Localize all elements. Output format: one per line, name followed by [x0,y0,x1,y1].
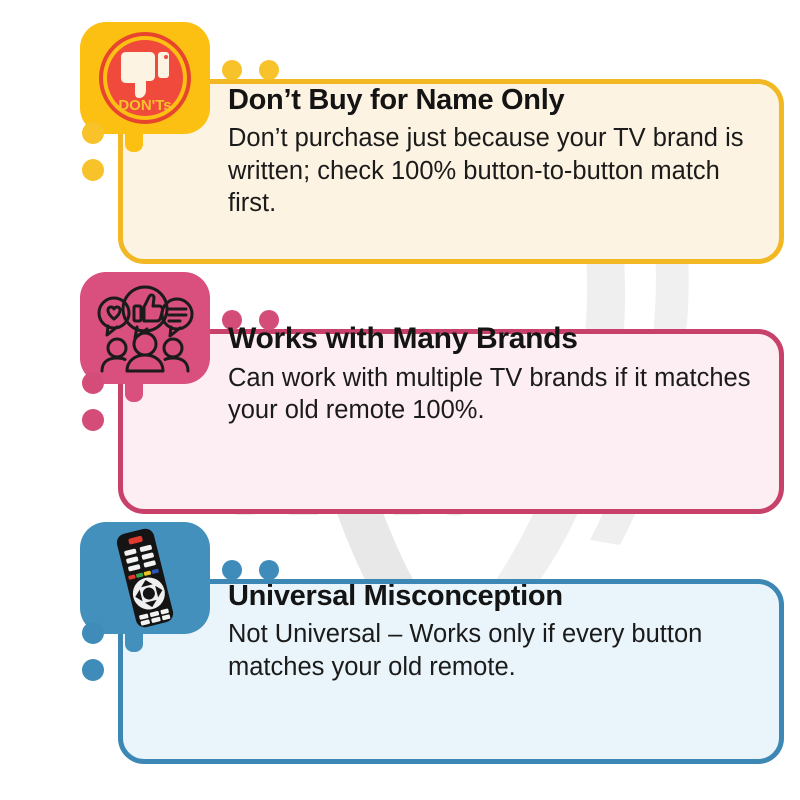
icon-panel [80,522,210,634]
card-text-group: Don’t Buy for Name Only Don’t purchase j… [228,84,774,219]
icon-panel [80,272,210,384]
card-text-group: Universal Misconception Not Universal – … [228,580,774,683]
card-title: Works with Many Brands [228,322,774,356]
decor-dot [259,560,279,580]
decor-dot [222,60,242,80]
decor-dot [82,659,104,681]
card-title: Universal Misconception [228,580,774,612]
card-body: Not Universal – Works only if every butt… [228,618,774,682]
decor-dot [82,159,104,181]
decor-dot [82,622,104,644]
icon-panel: DON'Ts [80,22,210,134]
decor-dot [259,60,279,80]
decor-dot [82,409,104,431]
people-feedback-speech-bubbles-icon [80,272,210,384]
decor-dot [82,372,104,394]
card-body: Don’t purchase just because your TV bran… [228,122,774,218]
card-title: Don’t Buy for Name Only [228,84,774,116]
tip-card-universal-misconception: Universal Misconception Not Universal – … [0,522,800,762]
tip-card-works-with-many-brands: Works with Many Brands Can work with mul… [0,272,800,512]
tip-card-dont-buy-for-name-only: DON'Ts Don’t Buy for Name Only Don’t pur… [0,22,800,262]
decor-dot [82,122,104,144]
donts-badge-label: DON'Ts [118,97,171,114]
tv-remote-control-icon [80,522,210,634]
infographic-page: DEALS DON'Ts [0,0,800,800]
card-text-group: Works with Many Brands Can work with mul… [228,322,774,426]
card-body: Can work with multiple TV brands if it m… [228,362,774,426]
donts-thumbs-down-badge-icon: DON'Ts [80,22,210,134]
decor-dot [222,560,242,580]
